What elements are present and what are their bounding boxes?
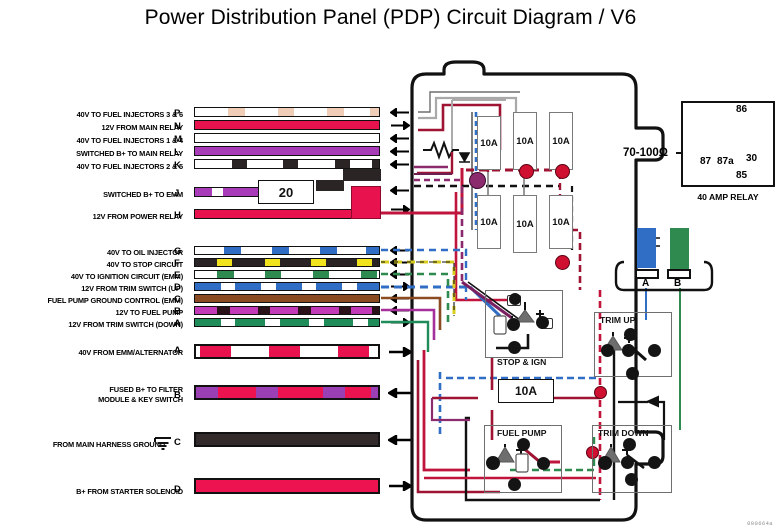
connector-label-B: B: [674, 278, 681, 289]
relay-detail-caption: 40 AMP RELAY: [681, 192, 775, 202]
flow-arrow-bottom-A: [388, 347, 412, 355]
bus-node-4: [594, 386, 607, 399]
wire-band-E: [194, 270, 380, 279]
trim-up-term-5: [626, 367, 639, 380]
ground-symbol-icon: [152, 435, 174, 458]
wire-label-H: 12V FROM POWER RELAY: [93, 212, 183, 221]
flow-arrow-F: [390, 258, 410, 266]
wire-band-bottom-B: [194, 385, 380, 400]
wire-band-bottom-A: [194, 344, 380, 359]
relay-terminal-label-86: 86: [736, 104, 747, 115]
flow-arrow-K: [390, 160, 410, 168]
flow-arrow-C: [390, 294, 410, 302]
wire-pin-B: B: [174, 306, 181, 317]
wire-label-L: SWITCHED B+ TO MAIN RELAY: [76, 149, 183, 158]
wire-band-G: [194, 246, 380, 255]
wire-label-E: 40V TO IGNITION CIRCUIT (EMM): [71, 272, 183, 281]
relay-label-trim-down: TRIM DOWN: [598, 428, 649, 438]
relay-label-trim-up: TRIM UP: [600, 315, 635, 325]
flow-arrow-B: [390, 306, 410, 314]
bus-node-1: [519, 164, 534, 179]
wire-label-A: 12V FROM TRIM SWITCH (DOWN): [68, 320, 183, 329]
wire-label-F: 40V TO STOP CIRCUIT: [107, 260, 183, 269]
relay-terminal-label-30: 30: [746, 153, 757, 164]
trim-down-term-3: [621, 456, 634, 469]
flow-arrow-M: [390, 134, 410, 142]
coil-resistance-label: 70-100Ω: [623, 147, 668, 159]
flow-arrow-N: [390, 121, 410, 129]
fuel-pump-term-1: [517, 438, 530, 451]
connector-block-A: [637, 228, 656, 268]
fuel-pump-term-3: [537, 457, 550, 470]
relay-terminal-label-87: 87: [700, 156, 711, 167]
wire-route-H-riser: [351, 186, 381, 219]
trim-up-term-4: [648, 344, 661, 357]
wire-label-bottom-D: B+ FROM STARTER SOLENOID: [76, 487, 183, 496]
wire-band-B: [194, 306, 380, 315]
inline-fuse-20: 20: [258, 180, 314, 204]
relay-label-stop-ign: STOP & IGN: [497, 357, 546, 367]
fuse-row1-col2: 10A: [513, 112, 537, 170]
wire-label-B: 12V TO FUEL PUMP: [115, 308, 183, 317]
flow-arrow-H: [390, 205, 410, 213]
trim-up-term-3: [622, 344, 635, 357]
wire-pin-K: K: [174, 160, 181, 171]
wire-band-P: [194, 107, 380, 117]
trim-down-term-4: [648, 456, 661, 469]
relay-terminal-dot-1: [509, 293, 521, 305]
fuel-pump-term-4: [508, 478, 521, 491]
flow-arrow-P: [390, 108, 410, 116]
fuse-row2-col3: 10A: [549, 195, 573, 249]
flow-arrow-J: [390, 186, 410, 194]
wire-label-D: 12V FROM TRIM SWITCH (UP): [81, 284, 183, 293]
wire-band-N: [194, 120, 380, 130]
wire-band-L: [194, 146, 380, 156]
relay-terminal-label-85: 85: [736, 170, 747, 181]
fuse-row1-col3: 10A: [549, 112, 573, 170]
trim-up-term-1: [624, 328, 637, 341]
trim-up-term-2: [601, 344, 614, 357]
flow-arrow-mid-A: [390, 318, 410, 326]
wire-pin-E: E: [174, 270, 180, 281]
bus-node-purple: [469, 172, 486, 189]
wire-label-G: 40V TO OIL INJECTOR: [107, 248, 183, 257]
wire-label-C: FUEL PUMP GROUND CONTROL (EMM): [47, 296, 183, 305]
flow-arrow-D: [390, 282, 410, 290]
wire-label-bottom-C: FROM MAIN HARNESS GROUND: [53, 440, 165, 449]
trim-down-term-2: [598, 456, 612, 470]
wire-label-N: 12V FROM MAIN RELAY: [102, 123, 183, 132]
wire-pin-J: J: [174, 188, 179, 199]
wire-pin-bottom-C: C: [174, 437, 181, 448]
flow-arrow-L: [390, 147, 410, 155]
wire-pin-bottom-D: D: [174, 484, 181, 495]
relay-terminal-dot-4: [508, 341, 521, 354]
fuse-row1-col1: 10A: [477, 116, 501, 170]
wire-pin-F: F: [174, 258, 180, 269]
relay-terminal-dot-3: [536, 316, 549, 329]
wire-band-C: [194, 294, 380, 303]
wire-pin-P: P: [174, 108, 180, 119]
wire-pin-C: C: [174, 294, 181, 305]
wire-label-K: 40V TO FUEL INJECTORS 2 & 5: [77, 162, 183, 171]
wire-band-F: [194, 258, 380, 267]
flow-arrow-G: [390, 246, 410, 254]
fuse-row2-col1: 10A: [477, 195, 501, 249]
connector-block-B: [670, 228, 689, 270]
wire-pin-L: L: [174, 147, 180, 158]
wire-pin-A: A: [174, 318, 181, 329]
wire-band-mid-A: [194, 318, 380, 327]
flow-arrow-bottom-D: [388, 481, 412, 489]
wire-pin-G: G: [174, 246, 181, 257]
wire-band-K: [194, 159, 380, 169]
wire-label-bottom-A: 40V FROM EMM/ALTERNATOR: [78, 348, 183, 357]
wire-label-bottom-B: FUSED B+ TO FILTER MODULE & KEY SWITCH: [3, 385, 183, 404]
flow-arrow-E: [390, 270, 410, 278]
flow-arrow-bottom-C: [388, 435, 412, 443]
wire-label-P: 40V TO FUEL INJECTORS 3 & 6: [77, 110, 183, 119]
fuel-pump-term-2: [486, 456, 500, 470]
relay-detail-box: [681, 101, 775, 187]
wire-pin-H: H: [174, 210, 181, 221]
diagram-canvas: Power Distribution Panel (PDP) Circuit D…: [0, 0, 781, 530]
wire-pin-D: D: [174, 282, 181, 293]
wire-band-bottom-C: [194, 432, 380, 447]
fuse-lower-center: 10A: [498, 379, 554, 403]
trim-down-term-1: [623, 438, 636, 451]
wire-pin-N: N: [174, 121, 181, 132]
image-watermark: 000664a: [747, 520, 773, 527]
wire-pin-bottom-A: A: [174, 345, 181, 356]
wire-route-J-black: [316, 180, 344, 191]
page-title: Power Distribution Panel (PDP) Circuit D…: [0, 6, 781, 30]
relay-label-fuel-pump: FUEL PUMP: [497, 428, 547, 438]
wire-band-bottom-D: [194, 478, 380, 494]
bus-node-2: [555, 164, 570, 179]
trim-down-term-5: [625, 473, 638, 486]
wire-label-J: SWITCHED B+ TO EMM: [103, 190, 183, 199]
bus-node-3: [555, 255, 570, 270]
wire-band-D: [194, 282, 380, 291]
wire-band-M: [194, 133, 380, 143]
wire-route-K-stub: [343, 169, 381, 181]
connector-label-A: A: [642, 278, 649, 289]
fuse-row2-col2: 10A: [513, 195, 537, 253]
wire-pin-M: M: [174, 134, 182, 145]
wire-pin-bottom-B: B: [174, 390, 181, 401]
wire-label-M: 40V TO FUEL INJECTORS 1 & 4: [77, 136, 183, 145]
flow-arrow-bottom-B: [388, 388, 412, 396]
relay-terminal-dot-2: [507, 318, 520, 331]
relay-terminal-label-87a: 87a: [717, 156, 734, 167]
